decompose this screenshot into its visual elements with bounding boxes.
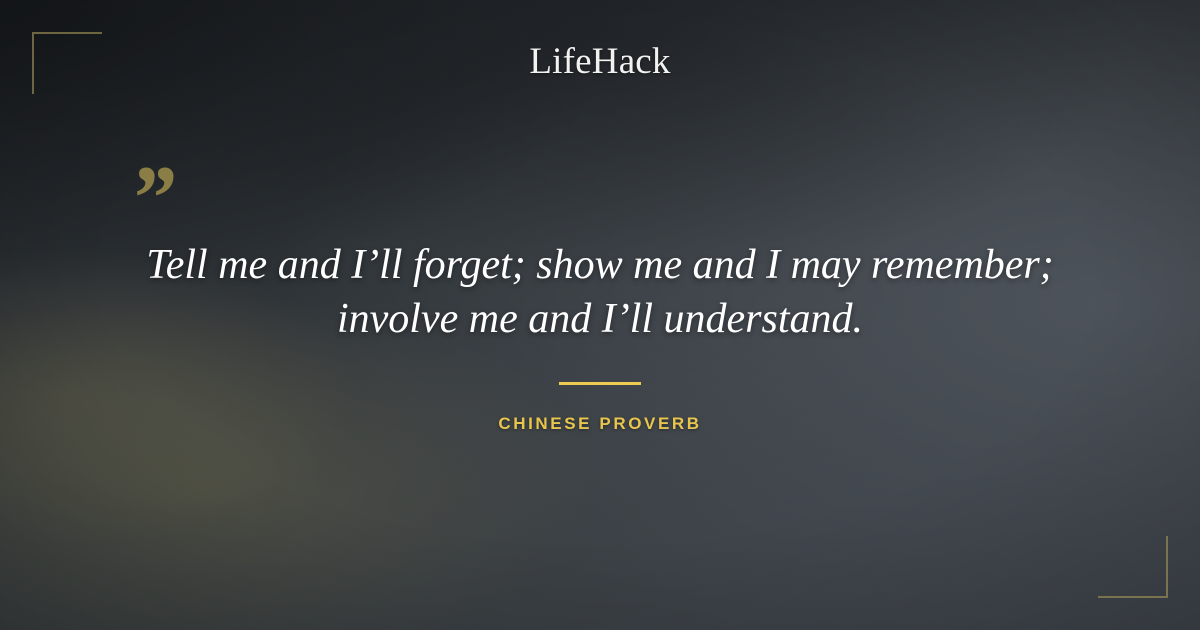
corner-bracket-bottom-right [1098,536,1168,598]
quote-line-2: involve me and I’ll understand. [337,296,863,342]
quote-block: Tell me and I’ll forget; show me and I m… [0,238,1200,346]
gold-divider [559,382,641,385]
quotation-mark-icon: ” [129,152,175,244]
quote-card: LifeHack ” Tell me and I’ll forget; show… [0,0,1200,630]
lifehack-logo: LifeHack [0,40,1200,83]
quote-line-1: Tell me and I’ll forget; show me and I m… [146,242,1054,288]
quote-text: Tell me and I’ll forget; show me and I m… [120,238,1080,346]
quote-attribution: CHINESE PROVERB [0,414,1200,434]
